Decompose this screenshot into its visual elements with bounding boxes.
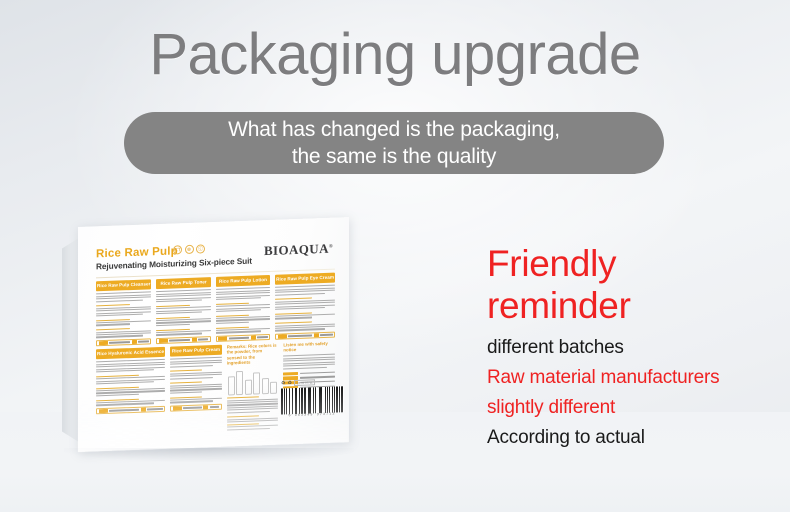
box-panel-lotion: Rice Raw Pulp Lotion: [216, 275, 270, 342]
subtitle-line-1: What has changed is the packaging,: [228, 116, 560, 143]
panel-title: Rice Raw Pulp Toner: [156, 277, 210, 289]
page-canvas: Packaging upgrade What has changed is th…: [0, 0, 790, 512]
panel-title: Rice Raw Pulp Lotion: [216, 275, 270, 287]
reminder-line-3: slightly different: [487, 393, 782, 423]
box-panel-cleanser: Rice Raw Pulp Cleanser: [96, 279, 151, 346]
reminder-line-1: different batches: [487, 333, 782, 363]
subtitle-line-2: the same is the quality: [292, 143, 496, 170]
panel-title: Rice Raw Pulp Cream: [170, 345, 222, 357]
subtitle-banner: What has changed is the packaging, the s…: [124, 112, 664, 174]
panel-title: Rice Raw Pulp Cleanser: [96, 279, 151, 291]
reminder-heading-line-2: reminder: [487, 285, 782, 327]
panel-footer: [156, 336, 210, 344]
panel-text-block: [156, 289, 210, 335]
badge-icon-2: ⊗: [185, 245, 194, 254]
panel-text-block: [96, 292, 151, 338]
box-certification-badges: CT ⊗ ⓒ: [173, 244, 205, 254]
page-title: Packaging upgrade: [0, 20, 790, 90]
box-reflection: [78, 388, 348, 452]
panel-text-block: [275, 285, 335, 331]
illustration-caption: Remarks: Rice colors is the powder, from…: [227, 343, 279, 367]
panel-title: Rice Raw Pulp Eye Cream: [275, 273, 335, 285]
panel-text-block: [216, 287, 270, 333]
panel-footer: [96, 338, 151, 346]
brand-logo-text: BIOAQUA: [264, 241, 329, 258]
certification-label: QS 00 07711: [294, 379, 315, 386]
brand-logo: BIOAQUA®: [264, 241, 333, 260]
notice-caption: Listen me with safety notice: [283, 341, 335, 354]
panel-title: Rice Hyaluronic Acid Essence: [96, 347, 165, 359]
badge-icon-3: ⓒ: [196, 244, 205, 253]
badge-icon-1: CT: [173, 245, 182, 254]
reminder-detail-lines: different batches Raw material manufactu…: [487, 333, 782, 453]
reminder-line-2: Raw material manufacturers: [487, 363, 782, 393]
box-panel-toner: Rice Raw Pulp Toner: [156, 277, 210, 344]
box-panel-grid-row-1: Rice Raw Pulp Cleanser: [96, 273, 335, 347]
friendly-reminder-block: Friendly reminder different batches Raw …: [487, 243, 782, 453]
panel-footer: [275, 332, 335, 340]
reminder-line-4: According to actual: [487, 423, 782, 453]
bin-icon: ♻: [287, 380, 291, 386]
trademark-icon: ®: [329, 244, 333, 249]
box-panel-eye-cream: Rice Raw Pulp Eye Cream: [275, 273, 335, 340]
panel-footer: [216, 334, 270, 342]
legend-swatch: [283, 372, 298, 376]
reminder-heading-line-1: Friendly: [487, 243, 782, 285]
recycle-icon: ♻: [281, 380, 285, 386]
notice-text-block: [283, 354, 335, 369]
